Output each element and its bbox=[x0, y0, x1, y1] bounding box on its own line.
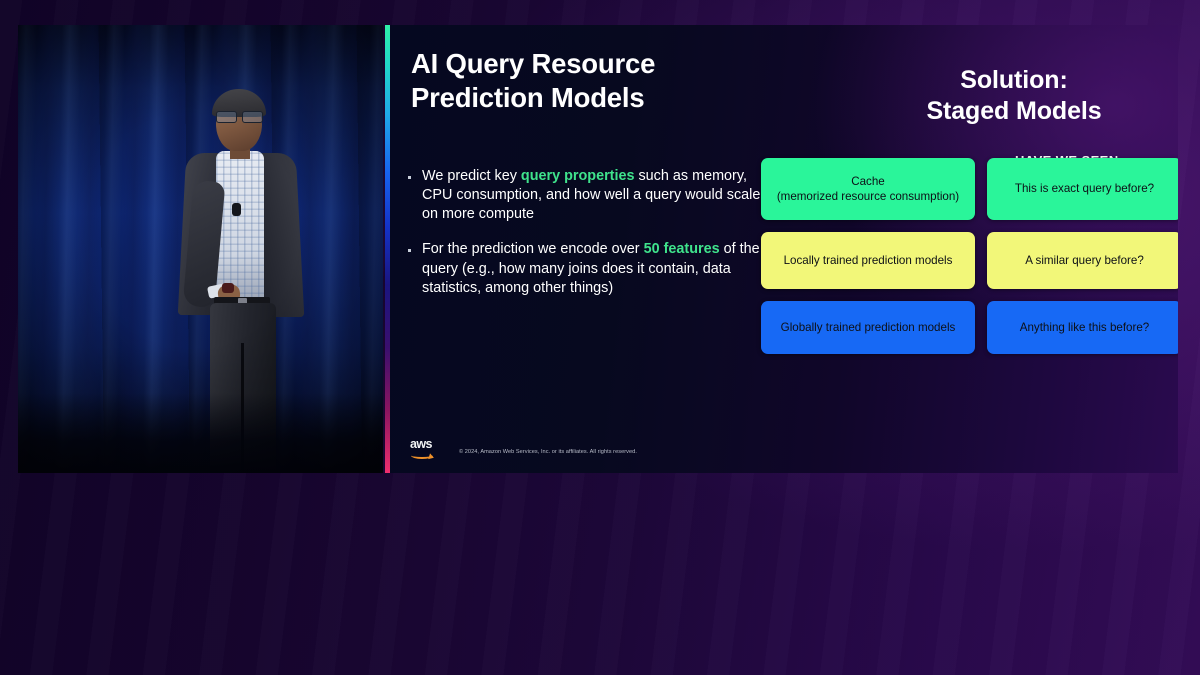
solution-heading: Solution: Staged Models bbox=[860, 65, 1168, 128]
aws-logo-icon: aws bbox=[410, 438, 436, 458]
list-item: For the prediction we encode over 50 fea… bbox=[408, 240, 776, 297]
bullet-text: For the prediction we encode over 50 fea… bbox=[422, 240, 776, 297]
question-cell-exact-query: This is exact query before? bbox=[987, 158, 1178, 220]
list-item: We predict key query properties such as … bbox=[408, 167, 776, 224]
bullet-dot-icon bbox=[408, 249, 411, 252]
bullet-text: We predict key query properties such as … bbox=[422, 167, 776, 224]
bullet-dot-icon bbox=[408, 176, 411, 179]
video-vignette bbox=[18, 25, 383, 473]
solution-heading-line2: Staged Models bbox=[860, 96, 1168, 127]
stage-cell-local-models: Locally trained prediction models bbox=[761, 232, 975, 289]
slide-title-line2: Prediction Models bbox=[411, 81, 771, 115]
aws-logo-text: aws bbox=[410, 438, 436, 451]
aws-smile-icon bbox=[411, 452, 433, 459]
table-row: Locally trained prediction models A simi… bbox=[761, 232, 1167, 289]
slide-title: AI Query Resource Prediction Models bbox=[411, 47, 771, 114]
bullet-2-highlight: 50 features bbox=[644, 241, 720, 257]
presentation-slide: AI Query Resource Prediction Models We p… bbox=[390, 25, 1178, 473]
question-cell-similar-query: A similar query before? bbox=[987, 232, 1178, 289]
copyright-text: © 2024, Amazon Web Services, Inc. or its… bbox=[459, 449, 637, 455]
stage-cell-global-models: Globally trained prediction models bbox=[761, 301, 975, 354]
broadcast-stage: AI Query Resource Prediction Models We p… bbox=[0, 0, 1200, 675]
bullet-1-highlight: query properties bbox=[521, 168, 635, 184]
solution-heading-line1: Solution: bbox=[960, 66, 1067, 94]
stage-cell-cache: Cache(memorized resource consumption) bbox=[761, 158, 975, 220]
question-cell-anything-like: Anything like this before? bbox=[987, 301, 1178, 354]
bullet-2-seg1: For the prediction we encode over bbox=[422, 241, 644, 257]
bullet-1-seg1: We predict key bbox=[422, 168, 521, 184]
speaker-video-panel bbox=[18, 25, 383, 473]
slide-title-line1: AI Query Resource bbox=[411, 48, 655, 79]
bullet-list: We predict key query properties such as … bbox=[408, 167, 776, 314]
staged-models-matrix: Cache(memorized resource consumption) Th… bbox=[761, 158, 1167, 366]
table-row: Globally trained prediction models Anyth… bbox=[761, 301, 1167, 354]
table-row: Cache(memorized resource consumption) Th… bbox=[761, 158, 1167, 220]
